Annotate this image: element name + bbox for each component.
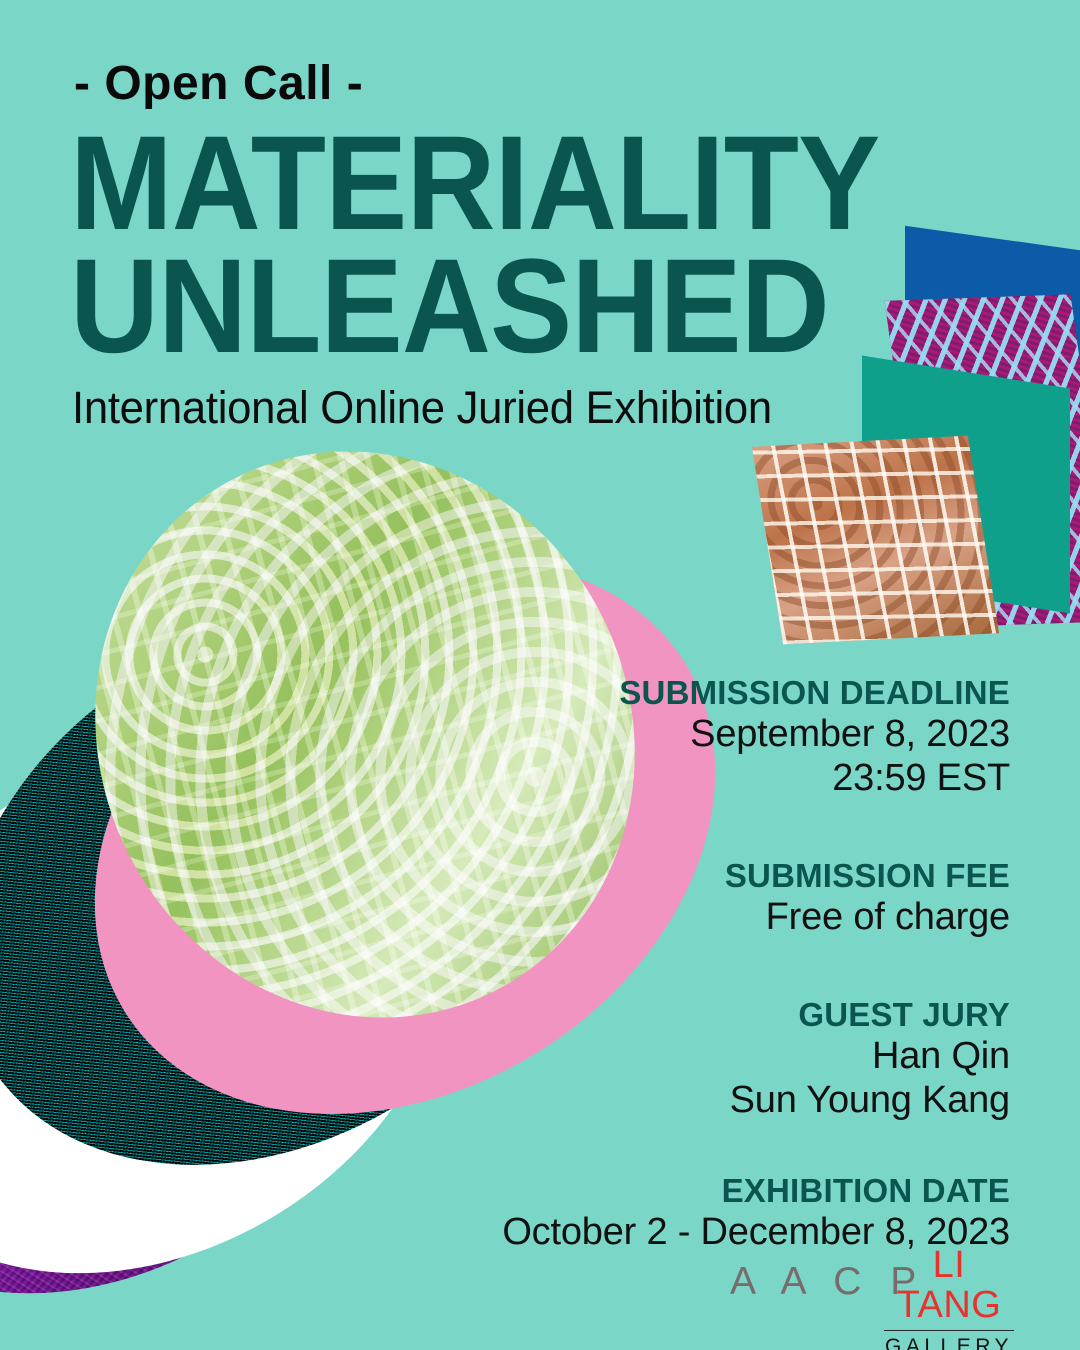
- value-guest-jury-1: Han Qin: [490, 1035, 1010, 1079]
- gallery-wordmark: GALLERY: [884, 1336, 1014, 1350]
- value-submission-deadline-time: 23:59 EST: [490, 757, 1010, 801]
- info-block-submission-deadline: SUBMISSION DEADLINE September 8, 2023 23…: [490, 672, 1010, 801]
- poster-canvas: - Open Call - MATERIALITY UNLEASHED Inte…: [0, 0, 1080, 1350]
- value-submission-fee: Free of charge: [490, 896, 1010, 940]
- value-guest-jury-2: Sun Young Kang: [490, 1079, 1010, 1123]
- label-submission-fee: SUBMISSION FEE: [490, 855, 1010, 896]
- label-exhibition-date: EXHIBITION DATE: [490, 1170, 1010, 1211]
- info-block-exhibition-date: EXHIBITION DATE October 2 - December 8, …: [490, 1170, 1010, 1255]
- label-submission-deadline: SUBMISSION DEADLINE: [490, 672, 1010, 713]
- li-tang-gallery-logo: LI TANG GALLERY: [884, 1246, 1014, 1350]
- poster-content: - Open Call - MATERIALITY UNLEASHED Inte…: [0, 0, 1080, 1350]
- headline-line-2: UNLEASHED: [70, 245, 898, 368]
- li-tang-divider: [884, 1330, 1014, 1331]
- open-call-kicker: - Open Call -: [74, 60, 363, 108]
- logo-row: A A C P LI TANG GALLERY: [0, 1246, 1080, 1336]
- details-list: SUBMISSION DEADLINE September 8, 2023 23…: [490, 672, 1010, 1255]
- value-submission-deadline-date: September 8, 2023: [490, 713, 1010, 757]
- info-block-guest-jury: GUEST JURY Han Qin Sun Young Kang: [490, 994, 1010, 1123]
- page-title: MATERIALITY UNLEASHED: [70, 122, 898, 369]
- info-block-submission-fee: SUBMISSION FEE Free of charge: [490, 855, 1010, 940]
- subtitle: International Online Juried Exhibition: [72, 382, 772, 434]
- li-tang-wordmark: LI TANG: [884, 1246, 1014, 1326]
- label-guest-jury: GUEST JURY: [490, 994, 1010, 1035]
